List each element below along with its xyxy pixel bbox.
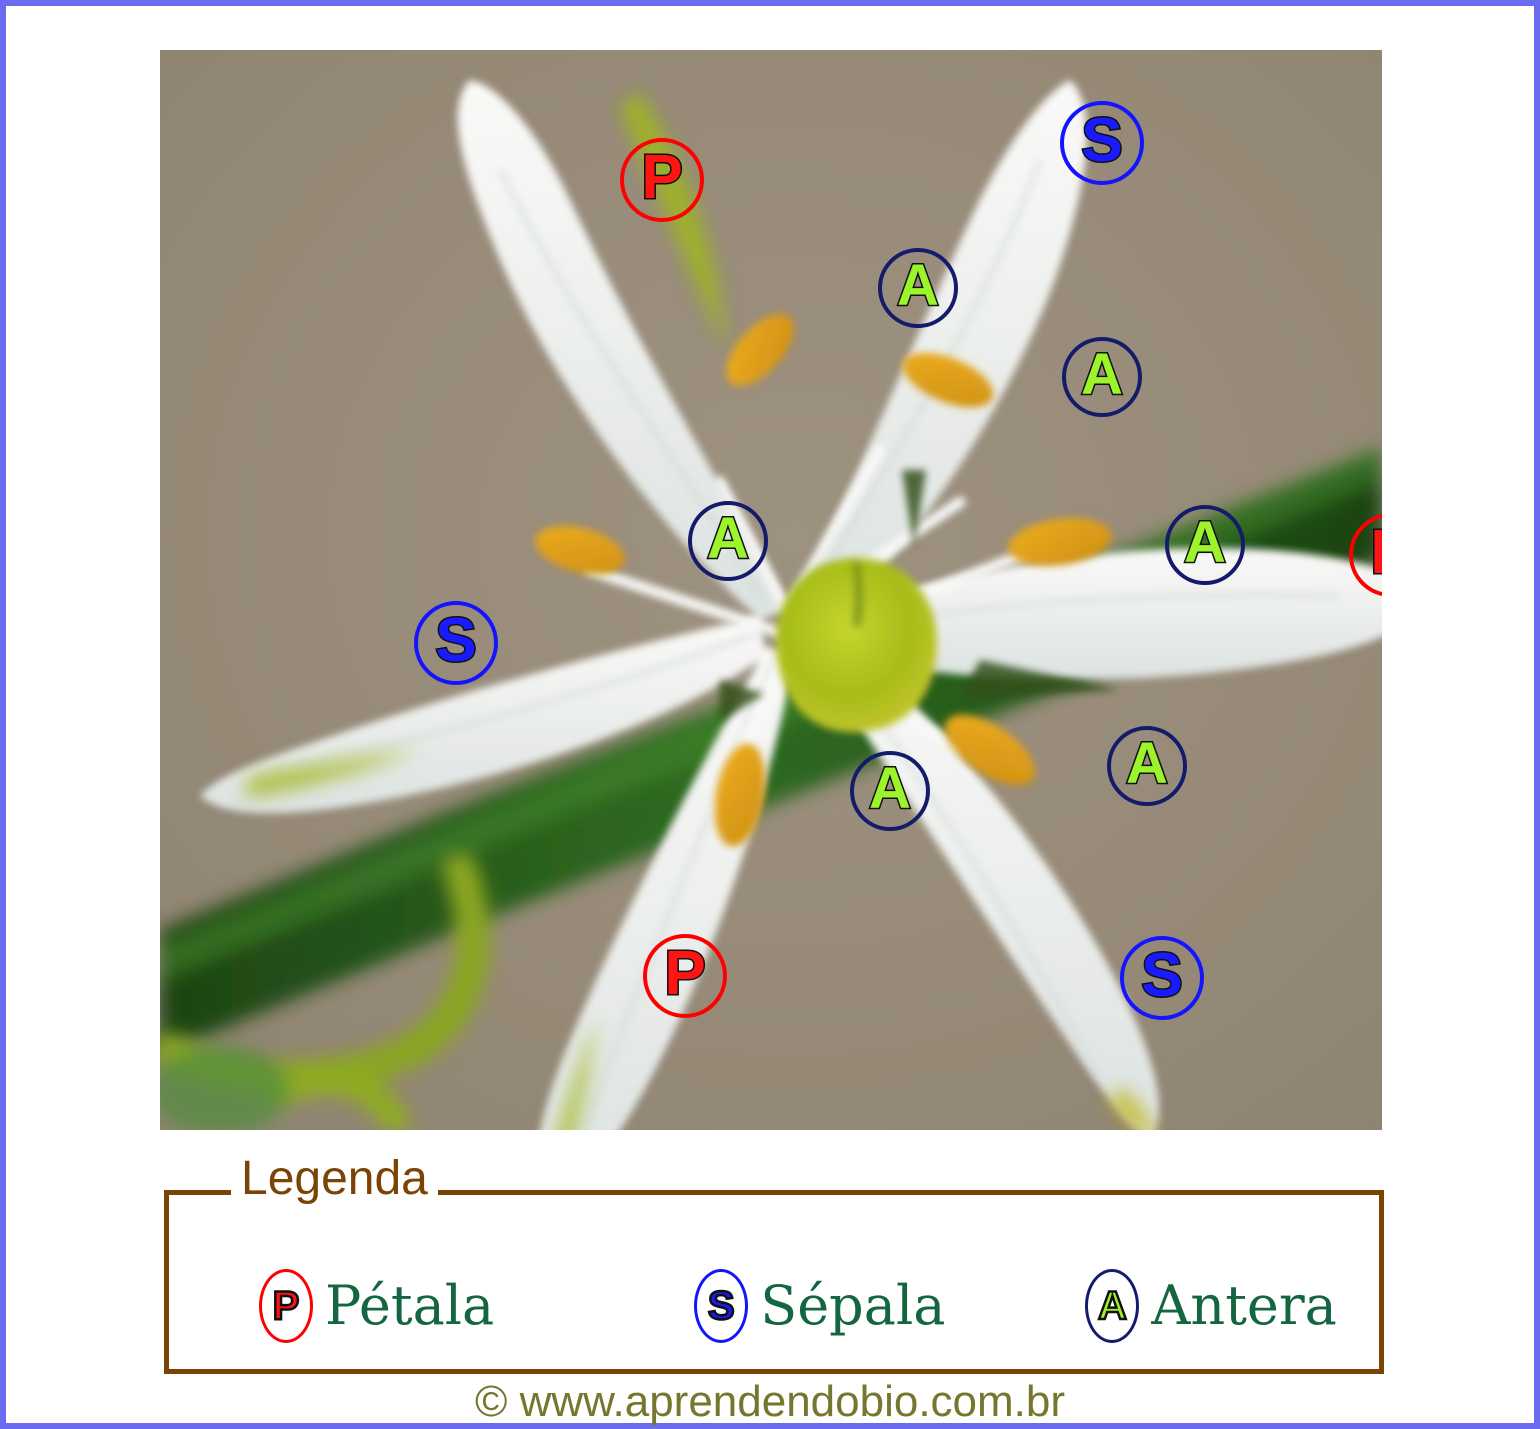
marker-sepal-left[interactable]: S — [414, 601, 498, 685]
marker-sepal-bottom-right[interactable]: S — [1120, 936, 1204, 1020]
legend-title: Legenda — [231, 1155, 438, 1203]
marker-anther-top[interactable]: A — [878, 248, 958, 328]
marker-letter: P — [1370, 522, 1382, 584]
legend-badge-letter: S — [708, 1286, 735, 1326]
legend-item-anther[interactable]: A Antera — [1085, 1269, 1336, 1343]
marker-anther-left[interactable]: A — [688, 501, 768, 581]
legend-badge-anther: A — [1085, 1269, 1139, 1343]
marker-letter: S — [435, 610, 476, 672]
legend-item-sepal[interactable]: S Sépala — [694, 1269, 945, 1343]
marker-letter: P — [641, 147, 682, 209]
marker-letter: A — [897, 257, 939, 315]
marker-letter: A — [1184, 514, 1226, 572]
marker-sepal-upper-right[interactable]: S — [1060, 101, 1144, 185]
marker-anther-lower-left[interactable]: A — [850, 751, 930, 831]
legend-label-sepal: Sépala — [760, 1279, 945, 1333]
legend-badge-letter: P — [273, 1286, 300, 1326]
copyright-footer: © www.aprendendobio.com.br — [6, 1378, 1534, 1426]
legend-label-petal: Pétala — [325, 1279, 494, 1333]
marker-letter: P — [664, 943, 705, 1005]
page-root: P S A A A A P S A A P S — [0, 0, 1540, 1429]
marker-letter: S — [1141, 945, 1182, 1007]
legend-label-anther: Antera — [1151, 1279, 1336, 1333]
marker-petal-upper-left[interactable]: P — [620, 138, 704, 222]
legend-badge-sepal: S — [694, 1269, 748, 1343]
flower-photo: P S A A A A P S A A P S — [160, 50, 1382, 1130]
marker-letter: A — [1081, 346, 1123, 404]
marker-letter: A — [707, 510, 749, 568]
legend-box: Legenda P Pétala S Sépala A Antera — [164, 1190, 1384, 1374]
legend-items: P Pétala S Sépala A Antera — [169, 1269, 1379, 1343]
marker-letter: A — [869, 760, 911, 818]
marker-anther-right[interactable]: A — [1165, 505, 1245, 585]
legend-badge-letter: A — [1098, 1286, 1127, 1326]
marker-letter: A — [1126, 735, 1168, 793]
marker-letter: S — [1081, 110, 1122, 172]
marker-petal-bottom[interactable]: P — [643, 934, 727, 1018]
legend-badge-petal: P — [259, 1269, 313, 1343]
marker-anther-lower-right[interactable]: A — [1107, 726, 1187, 806]
legend-item-petal[interactable]: P Pétala — [259, 1269, 494, 1343]
marker-anther-upper-right[interactable]: A — [1062, 337, 1142, 417]
